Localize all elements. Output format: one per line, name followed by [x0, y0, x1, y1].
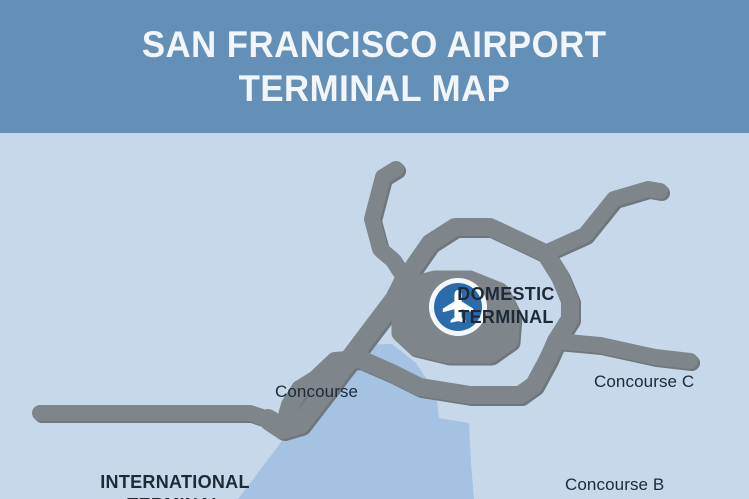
concourse-a-arm: [40, 413, 268, 419]
terminal-map-canvas: DOMESTIC TERMINAL INTERNATIONAL TERMINAL…: [0, 133, 749, 499]
terminal-map-graphic: [0, 133, 749, 499]
airport-marker[interactable]: [429, 278, 487, 336]
page-title-line-1: SAN FRANCISCO AIRPORT: [142, 23, 607, 67]
sfo-terminal-map-page: SAN FRANCISCO AIRPORT TERMINAL MAP: [0, 0, 749, 499]
page-title-line-2: TERMINAL MAP: [239, 67, 511, 111]
page-header: SAN FRANCISCO AIRPORT TERMINAL MAP: [0, 0, 749, 133]
